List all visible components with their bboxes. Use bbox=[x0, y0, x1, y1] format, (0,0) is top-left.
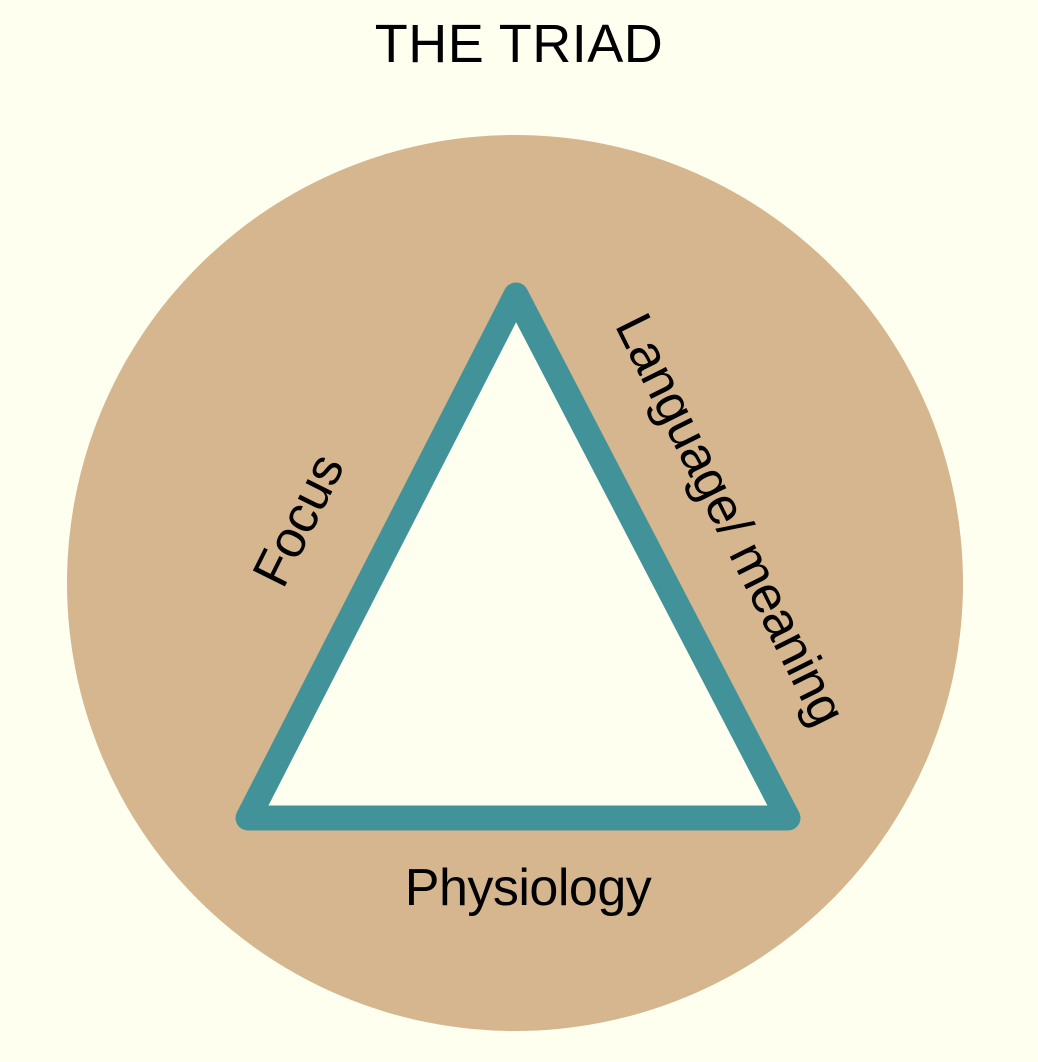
triad-canvas: THE TRIAD Focus Language/ meaning Physio… bbox=[0, 0, 1038, 1062]
page-title: THE TRIAD bbox=[375, 14, 664, 74]
label-physiology: Physiology bbox=[405, 859, 652, 917]
triad-diagram: THE TRIAD Focus Language/ meaning Physio… bbox=[0, 0, 1038, 1062]
